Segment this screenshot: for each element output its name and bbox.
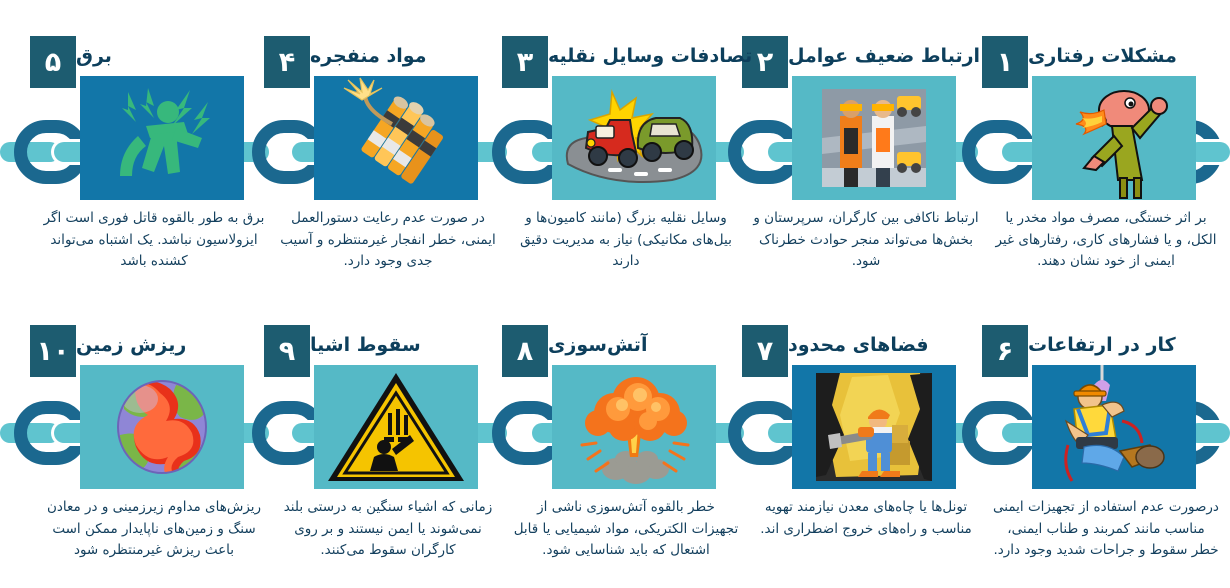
card-image-box — [792, 76, 956, 200]
worker-rope-harness-icon — [1032, 365, 1196, 489]
dynamite-bundle-icon — [314, 76, 478, 200]
badge-number: ۶ — [982, 325, 1028, 377]
card-header: ۹ سقوط اشیا — [264, 325, 502, 365]
card-title: آتش‌سوزی — [548, 325, 655, 356]
explosion-fire-icon — [552, 365, 716, 489]
card-title: ارتباط ضعیف عوامل — [788, 36, 988, 67]
card-header: ۴ مواد منفجره — [264, 36, 502, 76]
card-caption: ارتباط ناکافی بین کارگران، سرپرستان و بخ… — [746, 208, 980, 273]
mine-tunnel-worker-icon — [792, 365, 956, 489]
card-header: ۱ مشکلات رفتاری — [982, 36, 1220, 76]
hazard-card-9[interactable]: ۹ سقوط اشیا زمانی که اشیاء س — [264, 325, 502, 562]
card-title: تصادفات وسایل نقلیه — [548, 36, 760, 67]
falling-objects-warning-icon — [314, 365, 478, 489]
card-title: ریزش زمین — [76, 325, 194, 356]
card-image-box — [80, 76, 244, 200]
hazard-card-8[interactable]: ۸ آتش‌سوزی — [502, 325, 740, 562]
card-title: فضاهای محدود — [788, 325, 937, 356]
card-image-box — [314, 365, 478, 489]
card-title: سقوط اشیا — [310, 325, 429, 356]
hazard-card-6[interactable]: ۶ کار در ارتفاعات درصورت ع — [982, 325, 1220, 562]
badge-number: ۴ — [264, 36, 310, 88]
badge-number: ۵ — [30, 36, 76, 88]
hazard-card-10[interactable]: ۱۰ ریزش زمین — [30, 325, 268, 562]
card-caption: برق به طور بالقوه قاتل فوری است اگر ایزو… — [34, 208, 268, 273]
card-header: ۲ ارتباط ضعیف عوامل — [742, 36, 980, 76]
badge-number: ۱ — [982, 36, 1028, 88]
badge-number: ۷ — [742, 325, 788, 377]
hazard-card-1[interactable]: ۱ مشکلات رفتاری بر اثر خستگی، مصرف مواد … — [982, 36, 1220, 273]
card-title: کار در ارتفاعات — [1028, 325, 1184, 356]
hazard-card-7[interactable]: ۷ فضاهای محدود — [742, 325, 980, 540]
cracked-earth-globe-icon — [80, 365, 244, 489]
card-caption: درصورت عدم استفاده از تجهیزات ایمنی مناس… — [986, 497, 1220, 562]
card-image-box — [792, 365, 956, 489]
card-header: ۶ کار در ارتفاعات — [982, 325, 1220, 365]
card-caption: وسایل نقلیه بزرگ (مانند کامیون‌ها و بیل‌… — [506, 208, 740, 273]
card-image-box — [1032, 76, 1196, 200]
hazard-card-2[interactable]: ۲ ارتباط ضعیف عوامل — [742, 36, 980, 273]
card-title: مواد منفجره — [310, 36, 434, 67]
card-header: ۸ آتش‌سوزی — [502, 325, 740, 365]
card-caption: زمانی که اشیاء سنگین به درستی بلند نمی‌ش… — [268, 497, 502, 562]
hazard-card-3[interactable]: ۳ تصادفات وسایل نقلیه وسایل نقلیه ب — [502, 36, 740, 273]
card-header: ۱۰ ریزش زمین — [30, 325, 268, 365]
badge-number: ۳ — [502, 36, 548, 88]
infographic-board: ۱ مشکلات رفتاری بر اثر خستگی، مصرف مواد … — [0, 0, 1230, 588]
badge-number: ۹ — [264, 325, 310, 377]
card-title: مشکلات رفتاری — [1028, 36, 1185, 67]
card-image-box — [314, 76, 478, 200]
hazard-card-4[interactable]: ۴ مواد منفجره — [264, 36, 502, 273]
badge-number: ۱۰ — [30, 325, 76, 377]
card-image-box — [80, 365, 244, 489]
card-header: ۵ برق — [30, 36, 268, 76]
card-caption: ریزش‌های مداوم زیرزمینی و در معادن سنگ و… — [34, 497, 268, 562]
card-caption: بر اثر خستگی، مصرف مواد مخدر یا الکل، و … — [986, 208, 1220, 273]
hazard-card-5[interactable]: ۵ برق برق به طور بالقوه قاتل فوری است اگ… — [30, 36, 268, 273]
card-title: برق — [76, 36, 120, 67]
card-caption: تونل‌ها یا چاه‌های معدن نیازمند تهویه من… — [746, 497, 980, 540]
card-caption: در صورت عدم رعایت دستورالعمل ایمنی، خطر … — [268, 208, 502, 273]
card-image-box — [1032, 365, 1196, 489]
card-image-box — [552, 76, 716, 200]
car-crash-icon — [552, 76, 716, 200]
card-image-box — [552, 365, 716, 489]
angry-shouting-worker-icon — [1032, 76, 1196, 200]
card-header: ۷ فضاهای محدود — [742, 325, 980, 365]
card-caption: خطر بالقوه آتش‌سوزی ناشی از تجهیزات الکت… — [506, 497, 740, 562]
badge-number: ۸ — [502, 325, 548, 377]
card-header: ۳ تصادفات وسایل نقلیه — [502, 36, 740, 76]
electric-shock-icon — [80, 76, 244, 200]
two-workers-talking-icon — [792, 76, 956, 200]
